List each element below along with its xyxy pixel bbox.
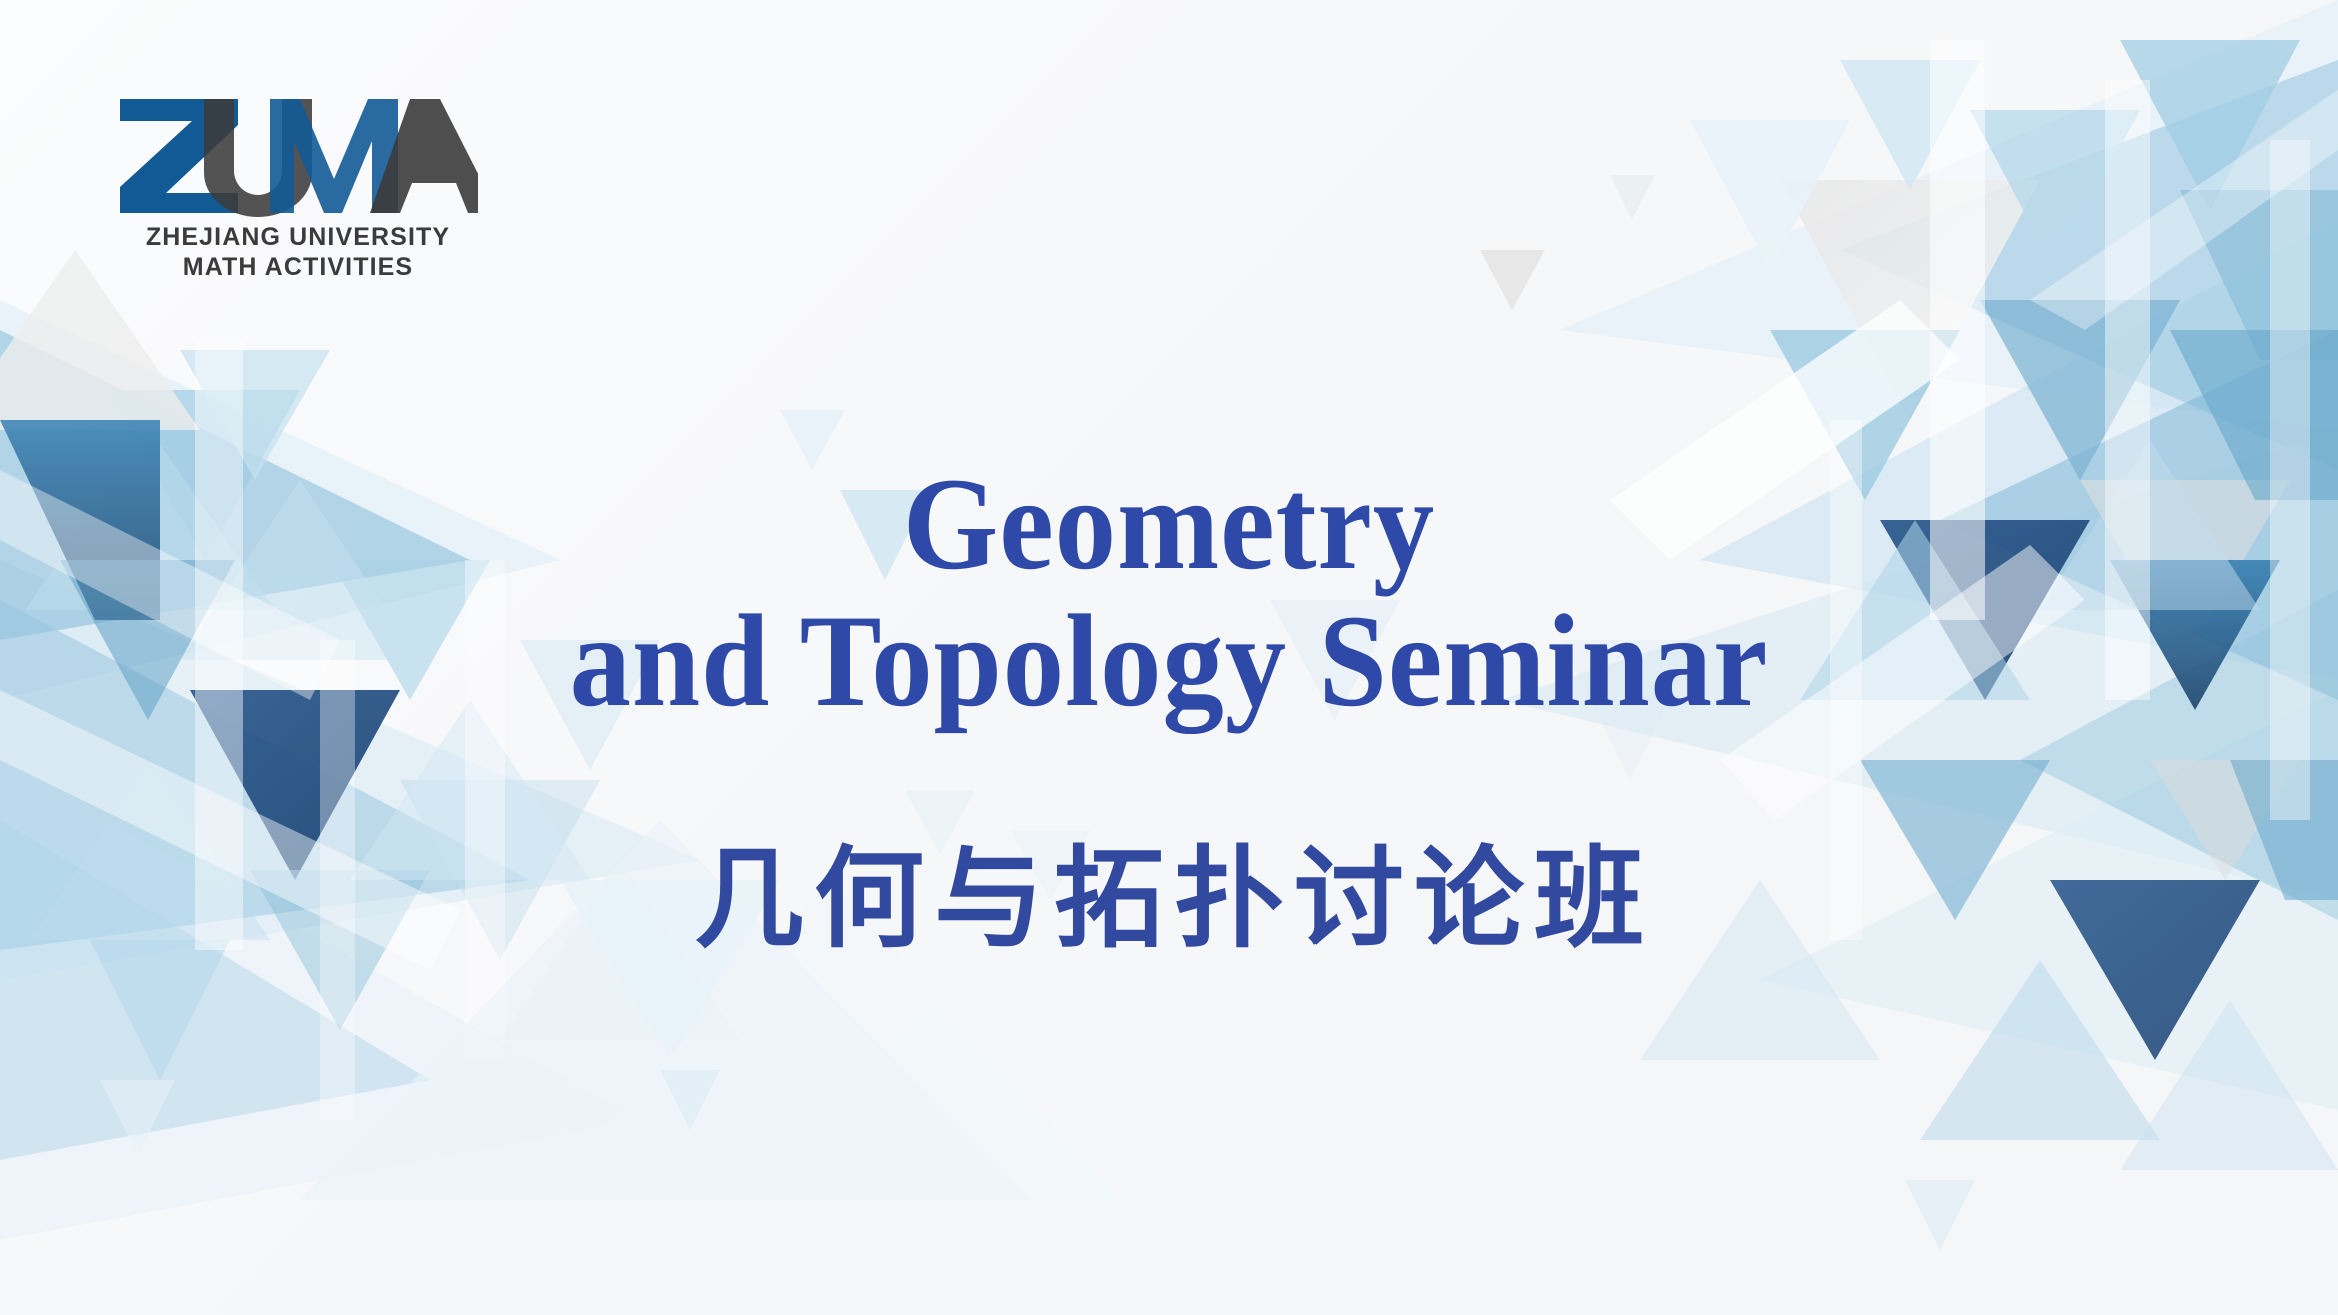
chinese-subtitle: 几何与拓扑讨论班 bbox=[0, 845, 2338, 955]
title-line-and-topology-seminar: and Topology Seminar bbox=[82, 592, 2256, 729]
logo-subtitle-line-1: ZHEJIANG UNIVERSITY bbox=[118, 223, 478, 253]
zuma-wordmark-icon bbox=[118, 95, 478, 217]
zuma-logo: ZHEJIANG UNIVERSITY MATH ACTIVITIES bbox=[118, 95, 478, 282]
seminar-title-slide: ZHEJIANG UNIVERSITY MATH ACTIVITIES Geom… bbox=[0, 0, 2338, 1315]
title-line-geometry: Geometry bbox=[82, 455, 2256, 592]
title-block: Geometry and Topology Seminar bbox=[0, 455, 2338, 730]
logo-subtitle-line-2: MATH ACTIVITIES bbox=[118, 253, 478, 283]
